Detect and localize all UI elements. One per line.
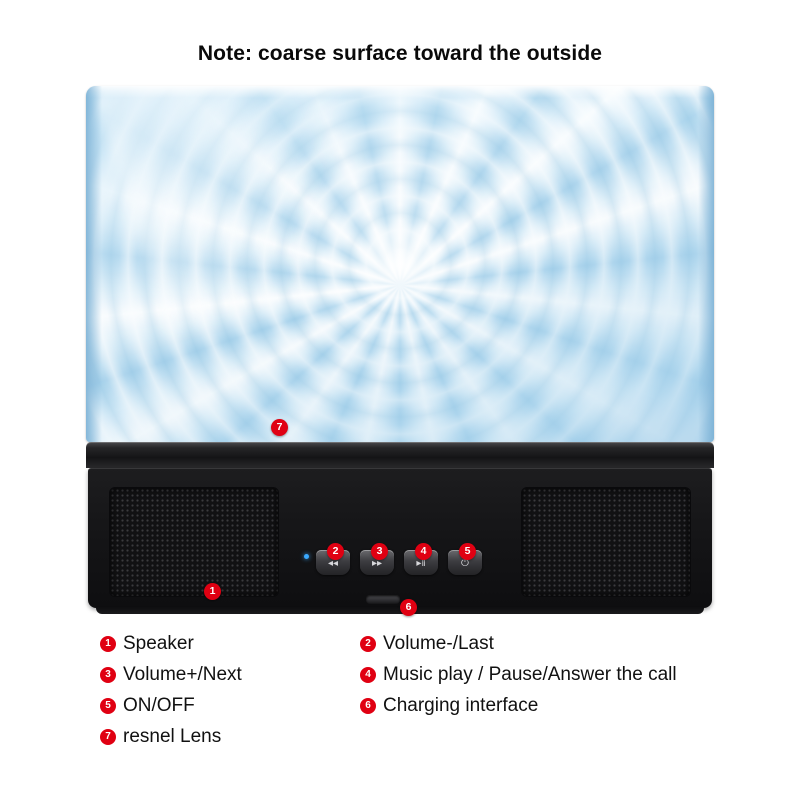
callout-marker-7: 7: [271, 419, 288, 436]
legend-label-5: ON/OFF: [123, 695, 195, 717]
device-illustration: ◂◂ ▸▸ ▸‖ ⏻ 7 1 2 3 4 5 6: [86, 86, 714, 616]
speaker-body: ◂◂ ▸▸ ▸‖ ⏻: [86, 442, 714, 616]
legend-item-5: 5 ON/OFF: [100, 695, 360, 717]
legend-label-4: Music play / Pause/Answer the call: [383, 664, 677, 686]
charging-interface-port: [366, 595, 400, 604]
legend-label-2: Volume-/Last: [383, 633, 494, 655]
legend-row: 5 ON/OFF 6 Charging interface: [100, 690, 740, 721]
callout-marker-6: 6: [400, 599, 417, 616]
legend-item-4: 4 Music play / Pause/Answer the call: [360, 664, 740, 686]
legend-label-6: Charging interface: [383, 695, 538, 717]
callout-marker-3: 3: [371, 543, 388, 560]
legend-label-1: Speaker: [123, 633, 194, 655]
legend-bullet-6: 6: [360, 698, 376, 714]
legend-bullet-1: 1: [100, 636, 116, 652]
callout-marker-2: 2: [327, 543, 344, 560]
callout-marker-5: 5: [459, 543, 476, 560]
legend-bullet-4: 4: [360, 667, 376, 683]
legend-item-6: 6 Charging interface: [360, 695, 740, 717]
legend-item-7: 7 resnel Lens: [100, 726, 360, 748]
body-top-bezel: [86, 442, 714, 468]
lens-top-edge: [86, 86, 714, 98]
lens-left-edge: [86, 86, 102, 442]
callout-marker-4: 4: [415, 543, 432, 560]
speaker-grill-left: [110, 488, 278, 596]
callout-marker-1: 1: [204, 583, 221, 600]
status-led-indicator: [304, 554, 309, 559]
legend-item-1: 1 Speaker: [100, 633, 360, 655]
legend-bullet-7: 7: [100, 729, 116, 745]
legend-row: 3 Volume+/Next 4 Music play / Pause/Answ…: [100, 659, 740, 690]
legend-item-3: 3 Volume+/Next: [100, 664, 360, 686]
next-track-icon: ▸▸: [372, 559, 382, 569]
power-icon: ⏻: [461, 559, 469, 569]
legend-bullet-3: 3: [100, 667, 116, 683]
page-title: Note: coarse surface toward the outside: [0, 42, 800, 66]
legend-label-3: Volume+/Next: [123, 664, 242, 686]
legend-label-7: resnel Lens: [123, 726, 221, 748]
fresnel-lens-screen: [86, 86, 714, 442]
lens-right-edge: [698, 86, 714, 442]
body-front-panel: ◂◂ ▸▸ ▸‖ ⏻: [88, 468, 712, 608]
legend-bullet-2: 2: [360, 636, 376, 652]
legend-row: 7 resnel Lens: [100, 721, 740, 752]
previous-track-icon: ◂◂: [328, 559, 338, 569]
play-pause-icon: ▸‖: [416, 559, 425, 569]
legend-bullet-5: 5: [100, 698, 116, 714]
legend: 1 Speaker 2 Volume-/Last 3 Volume+/Next …: [100, 628, 740, 752]
speaker-grill-right: [522, 488, 690, 596]
legend-item-2: 2 Volume-/Last: [360, 633, 740, 655]
legend-row: 1 Speaker 2 Volume-/Last: [100, 628, 740, 659]
